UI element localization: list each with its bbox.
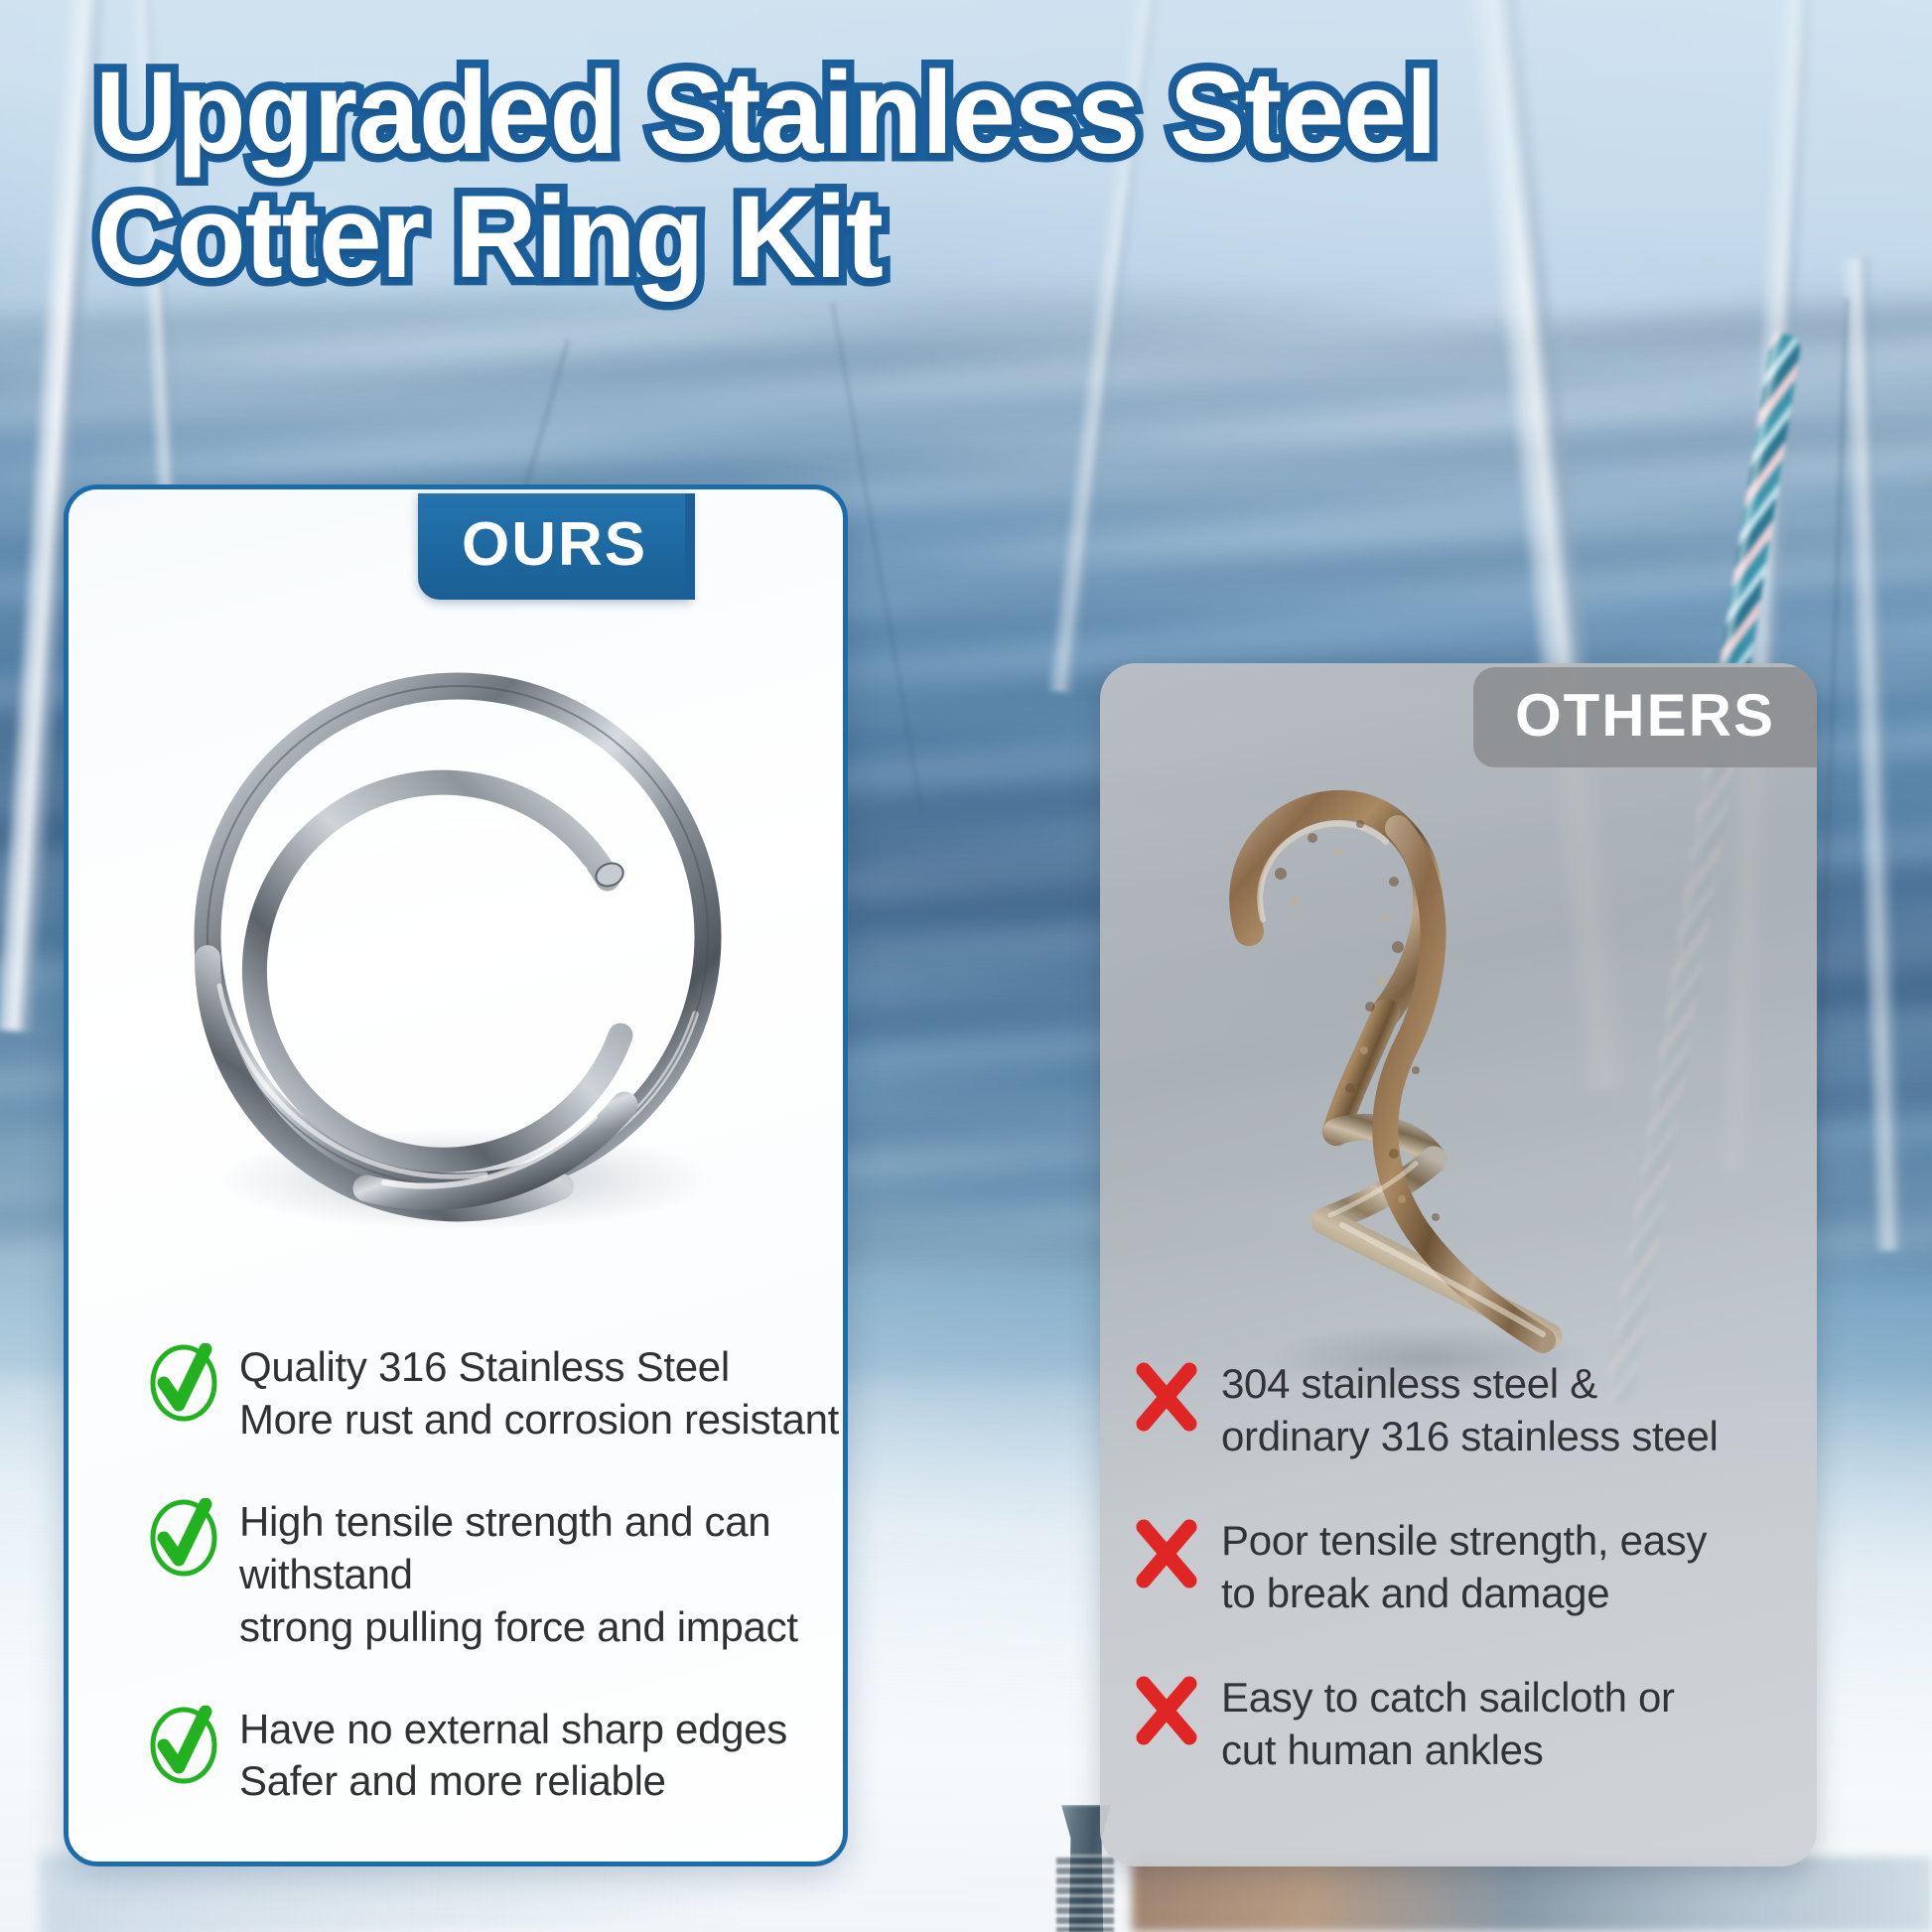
ours-panel: OURS xyxy=(64,484,848,1866)
list-item: Quality 316 Stainless Steel More rust an… xyxy=(94,1341,848,1447)
list-item: 304 stainless steel & ordinary 316 stain… xyxy=(1134,1358,1817,1463)
list-item: High tensile strength and can withstand … xyxy=(94,1496,848,1654)
others-drawback-list: 304 stainless steel & ordinary 316 stain… xyxy=(1134,1358,1817,1828)
check-circle-icon xyxy=(148,1498,219,1578)
feature-text: High tensile strength and can withstand … xyxy=(239,1496,848,1654)
cross-mark-icon xyxy=(1134,1362,1199,1434)
ours-badge: OURS xyxy=(418,493,691,600)
cross-mark-icon xyxy=(1134,1519,1199,1590)
ours-feature-list: Quality 316 Stainless Steel More rust an… xyxy=(94,1341,848,1858)
list-item: Easy to catch sailcloth or cut human ank… xyxy=(1134,1672,1817,1777)
drawback-text: 304 stainless steel & ordinary 316 stain… xyxy=(1221,1358,1719,1463)
feature-text: Have no external sharp edges Safer and m… xyxy=(239,1704,787,1809)
list-item: Have no external sharp edges Safer and m… xyxy=(94,1704,848,1809)
bolt-thread xyxy=(1056,1855,1114,1932)
drawback-text: Easy to catch sailcloth or cut human ank… xyxy=(1221,1672,1675,1777)
others-panel: OTHERS xyxy=(1100,663,1817,1866)
page-title: Upgraded Stainless Steel Cotter Ring Kit xyxy=(95,52,1877,300)
product-comparison-poster: Upgraded Stainless Steel Cotter Ring Kit… xyxy=(0,0,1932,1932)
header: Upgraded Stainless Steel Cotter Ring Kit xyxy=(0,0,1932,320)
list-item: Poor tensile strength, easy to break and… xyxy=(1134,1515,1817,1620)
split-ring-icon xyxy=(69,609,848,1294)
check-circle-icon xyxy=(148,1343,219,1423)
feature-text: Quality 316 Stainless Steel More rust an… xyxy=(239,1341,839,1447)
check-circle-icon xyxy=(148,1706,219,1785)
cross-mark-icon xyxy=(1134,1676,1199,1747)
drawback-text: Poor tensile strength, easy to break and… xyxy=(1221,1515,1707,1620)
deck-rail xyxy=(1132,1857,1932,1932)
rusty-r-clip-icon xyxy=(1100,743,1817,1428)
